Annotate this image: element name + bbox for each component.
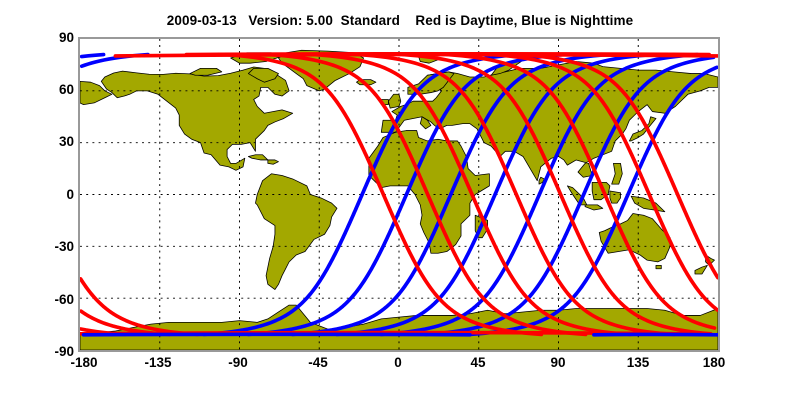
y-tick-label: -60 (38, 292, 74, 307)
landmass-north-america (101, 67, 292, 170)
y-tick-label: 0 (38, 187, 74, 202)
y-axis: 90 60 30 0 -30 -60 -90 (30, 0, 74, 400)
x-tick-label: 90 (518, 355, 598, 370)
landmass-new-guinea (631, 196, 665, 212)
x-tick-label: 180 (674, 355, 754, 370)
chart-title: 2009-03-13 Version: 5.00 Standard Red is… (0, 13, 800, 28)
x-tick-label: 135 (598, 355, 678, 370)
map-plot-area (78, 37, 720, 352)
landmass-philippines (612, 163, 623, 184)
landmass-victoria (190, 68, 222, 75)
x-tick-label: -45 (278, 355, 358, 370)
landmass-hispaniola (268, 160, 279, 164)
x-tick-label: -180 (44, 355, 124, 370)
world-map-svg (80, 39, 718, 350)
x-tick-label: 45 (438, 355, 518, 370)
x-axis: -180 -135 -90 -45 0 45 90 135 180 (0, 355, 800, 379)
y-tick-label: 60 (38, 82, 74, 97)
x-tick-label: -135 (118, 355, 198, 370)
landmass-java (585, 205, 603, 210)
figure-canvas: 2009-03-13 Version: 5.00 Standard Red is… (0, 0, 800, 400)
y-tick-label: 90 (38, 30, 74, 45)
y-tick-label: -30 (38, 239, 74, 254)
polar-cap-daytime-north (186, 54, 709, 55)
landmass-cuba (248, 155, 267, 160)
polar-cap-nighttime-south (84, 334, 470, 335)
x-tick-label: 0 (358, 355, 438, 370)
y-tick-label: 30 (38, 134, 74, 149)
landmass-new-zealand-s (695, 265, 707, 274)
landmass-tasmania (656, 265, 661, 268)
ground-track-nighttime (82, 55, 104, 57)
landmass-sulawesi (610, 191, 621, 203)
x-tick-label: -90 (198, 355, 278, 370)
plot-inner (80, 39, 718, 350)
